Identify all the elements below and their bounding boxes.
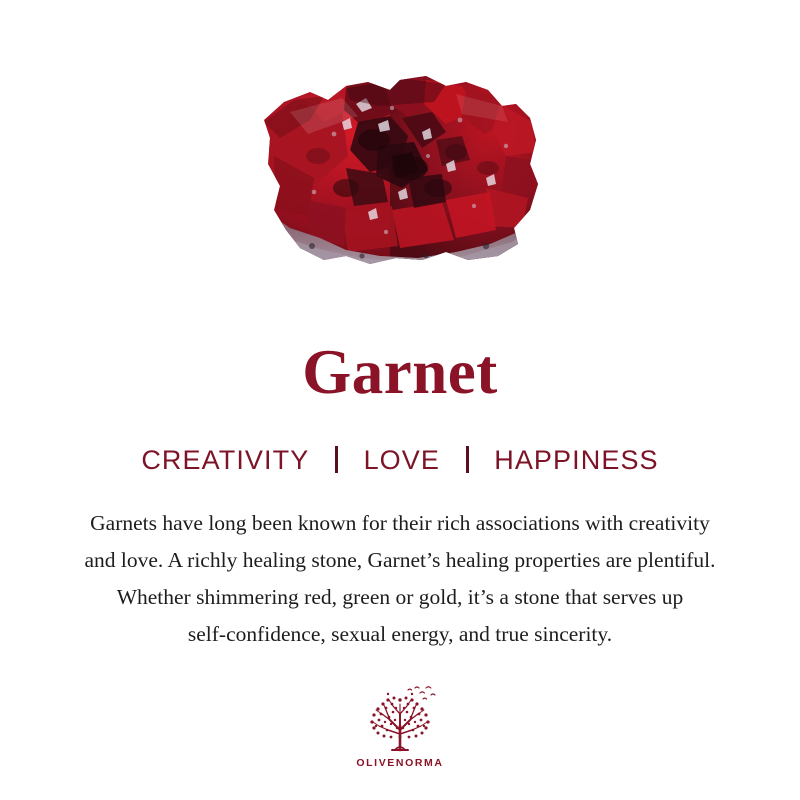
keyword-happiness: HAPPINESS xyxy=(494,443,658,477)
page-title: Garnet xyxy=(0,336,800,408)
garnet-stone-image xyxy=(0,52,800,282)
poster-canvas: Garnet CREATIVITY LOVE HAPPINESS Garnets… xyxy=(0,0,800,800)
description-line: Whether shimmering red, green or gold, i… xyxy=(18,579,782,616)
description-line: self-confidence, sexual energy, and true… xyxy=(18,616,782,653)
keyword-separator-icon xyxy=(466,446,469,473)
tree-of-life-icon xyxy=(362,684,438,756)
keyword-separator-icon xyxy=(335,446,338,473)
description-line: Garnets have long been known for their r… xyxy=(18,505,782,542)
brand-name: OLIVENORMA xyxy=(356,757,443,769)
description-paragraph: Garnets have long been known for their r… xyxy=(18,505,782,653)
keyword-line: CREATIVITY LOVE HAPPINESS xyxy=(0,443,800,477)
keyword-love: LOVE xyxy=(364,443,440,477)
garnet-crystal-illustration xyxy=(250,60,550,275)
brand-logo: OLIVENORMA xyxy=(0,684,800,769)
description-line: and love. A richly healing stone, Garnet… xyxy=(18,542,782,579)
keyword-creativity: CREATIVITY xyxy=(141,443,309,477)
